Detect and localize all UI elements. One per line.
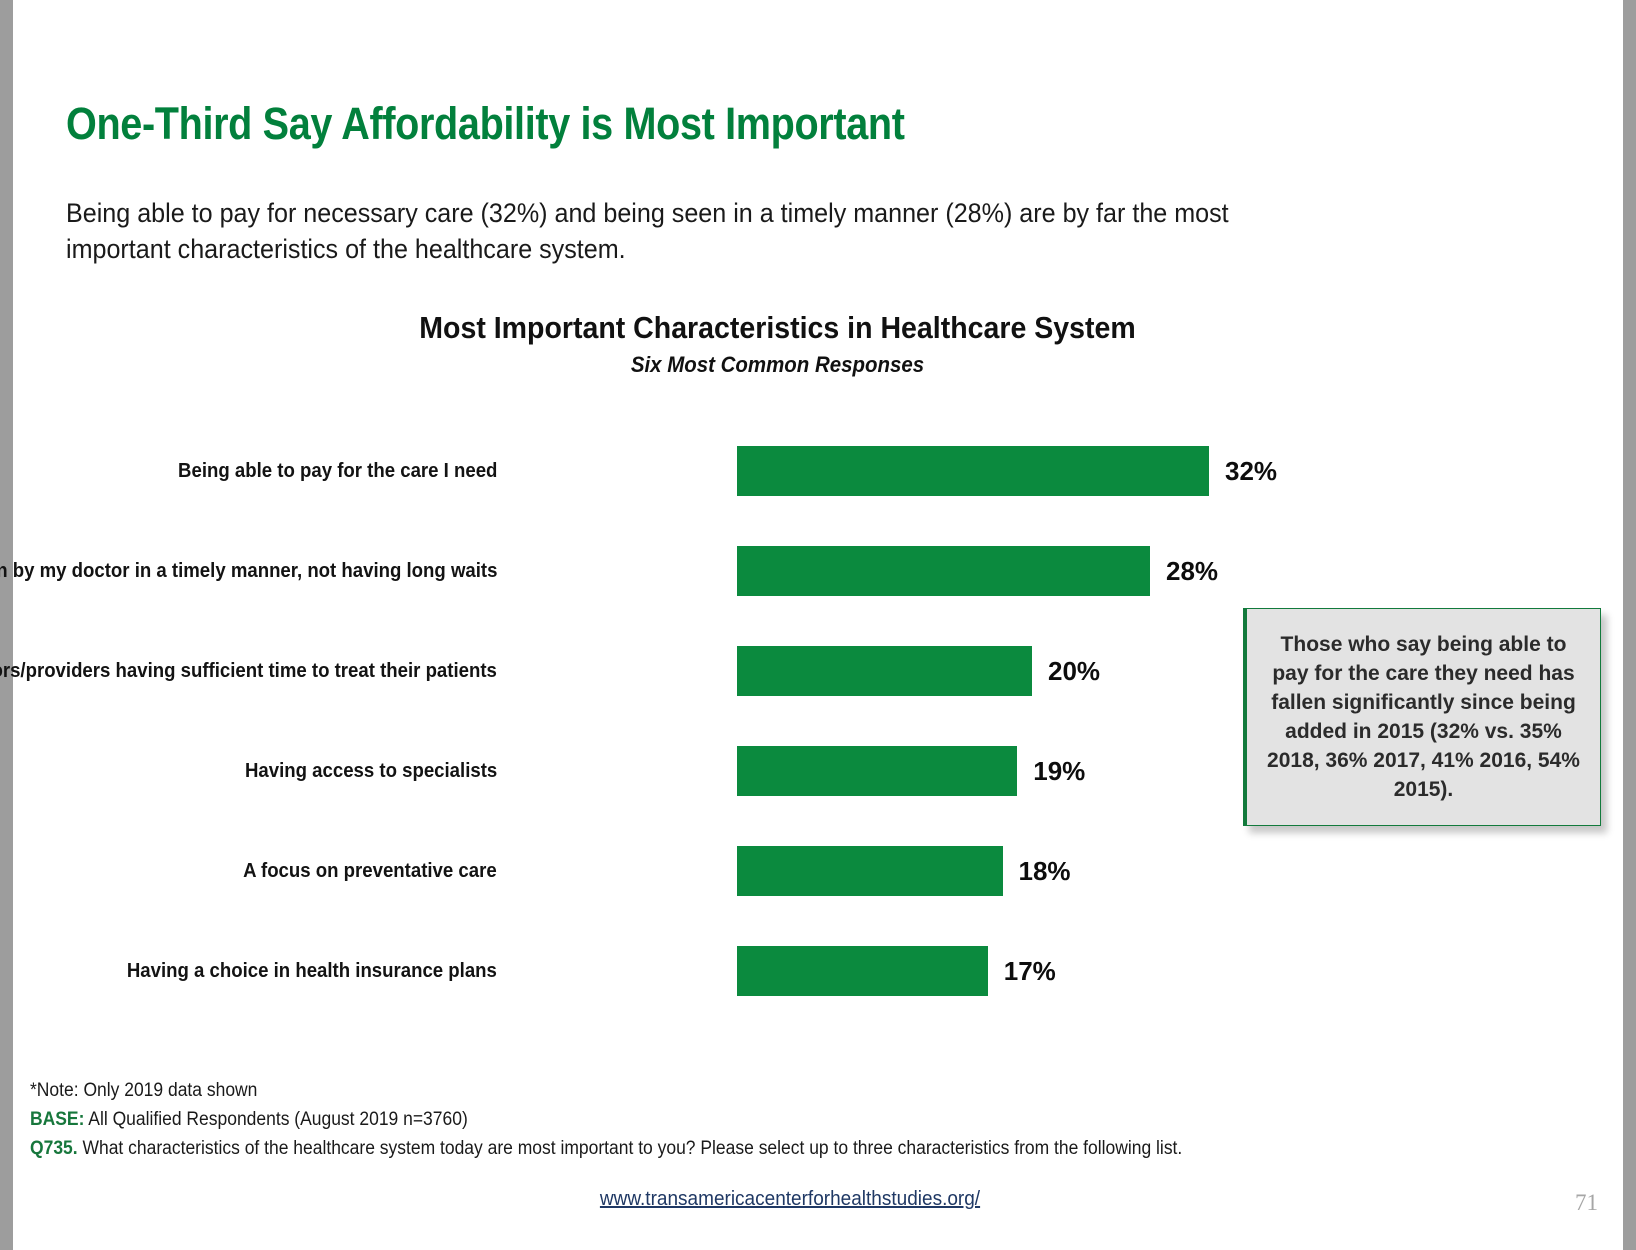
- note-line-base: BASE: All Qualified Respondents (August …: [30, 1105, 1318, 1134]
- question-value: What characteristics of the healthcare s…: [82, 1138, 1182, 1159]
- bar-row: A focus on preventative care18%: [0, 846, 1400, 896]
- bar: [737, 746, 1017, 796]
- note-text: *Note: Only 2019 data shown: [30, 1080, 257, 1101]
- page-subtitle: Being able to pay for necessary care (32…: [66, 196, 1303, 268]
- base-label: BASE:: [30, 1109, 84, 1130]
- page-number: 71: [1575, 1190, 1598, 1216]
- bar-value-label: 32%: [1225, 446, 1277, 496]
- bar-category-label: Being able to pay for the care I need: [178, 446, 497, 496]
- bar-category-label: A focus on preventative care: [243, 846, 497, 896]
- slide-canvas: One-Third Say Affordability is Most Impo…: [0, 0, 1636, 1250]
- bar-value-label: 18%: [1019, 846, 1071, 896]
- page-title: One-Third Say Affordability is Most Impo…: [66, 98, 1210, 150]
- bar-row: Doctors/providers having sufficient time…: [0, 646, 1400, 696]
- bar-value-label: 17%: [1004, 946, 1056, 996]
- note-line-data-shown: *Note: Only 2019 data shown: [30, 1076, 1318, 1105]
- bar-category-label: Being seen by my doctor in a timely mann…: [0, 546, 497, 596]
- bar-row: Having access to specialists19%: [0, 746, 1400, 796]
- chart-title: Most Important Characteristics in Health…: [62, 310, 1493, 346]
- bar-category-label: Doctors/providers having sufficient time…: [0, 646, 497, 696]
- callout-box: Those who say being able to pay for the …: [1243, 608, 1601, 826]
- bar: [737, 546, 1150, 596]
- bar: [737, 446, 1209, 496]
- bar-category-label: Having a choice in health insurance plan…: [127, 946, 497, 996]
- chart-subtitle: Six Most Common Responses: [54, 352, 1500, 378]
- note-line-question: Q735. What characteristics of the health…: [30, 1134, 1318, 1163]
- bar-value-label: 19%: [1033, 746, 1085, 796]
- bar-category-label: Having access to specialists: [245, 746, 497, 796]
- bar-value-label: 20%: [1048, 646, 1100, 696]
- question-label: Q735.: [30, 1138, 78, 1159]
- bar: [737, 946, 988, 996]
- bar-row: Having a choice in health insurance plan…: [0, 946, 1400, 996]
- bar-row: Being seen by my doctor in a timely mann…: [0, 546, 1400, 596]
- callout-text: Those who say being able to pay for the …: [1267, 633, 1580, 801]
- base-value: All Qualified Respondents (August 2019 n…: [88, 1109, 467, 1130]
- bar: [737, 646, 1032, 696]
- footnotes: *Note: Only 2019 data shown BASE: All Qu…: [30, 1076, 1430, 1163]
- bar: [737, 846, 1003, 896]
- bar-row: Being able to pay for the care I need32%: [0, 446, 1400, 496]
- footer-link[interactable]: www.transamericacenterforhealthstudies.o…: [40, 1188, 1541, 1211]
- bar-value-label: 28%: [1166, 546, 1218, 596]
